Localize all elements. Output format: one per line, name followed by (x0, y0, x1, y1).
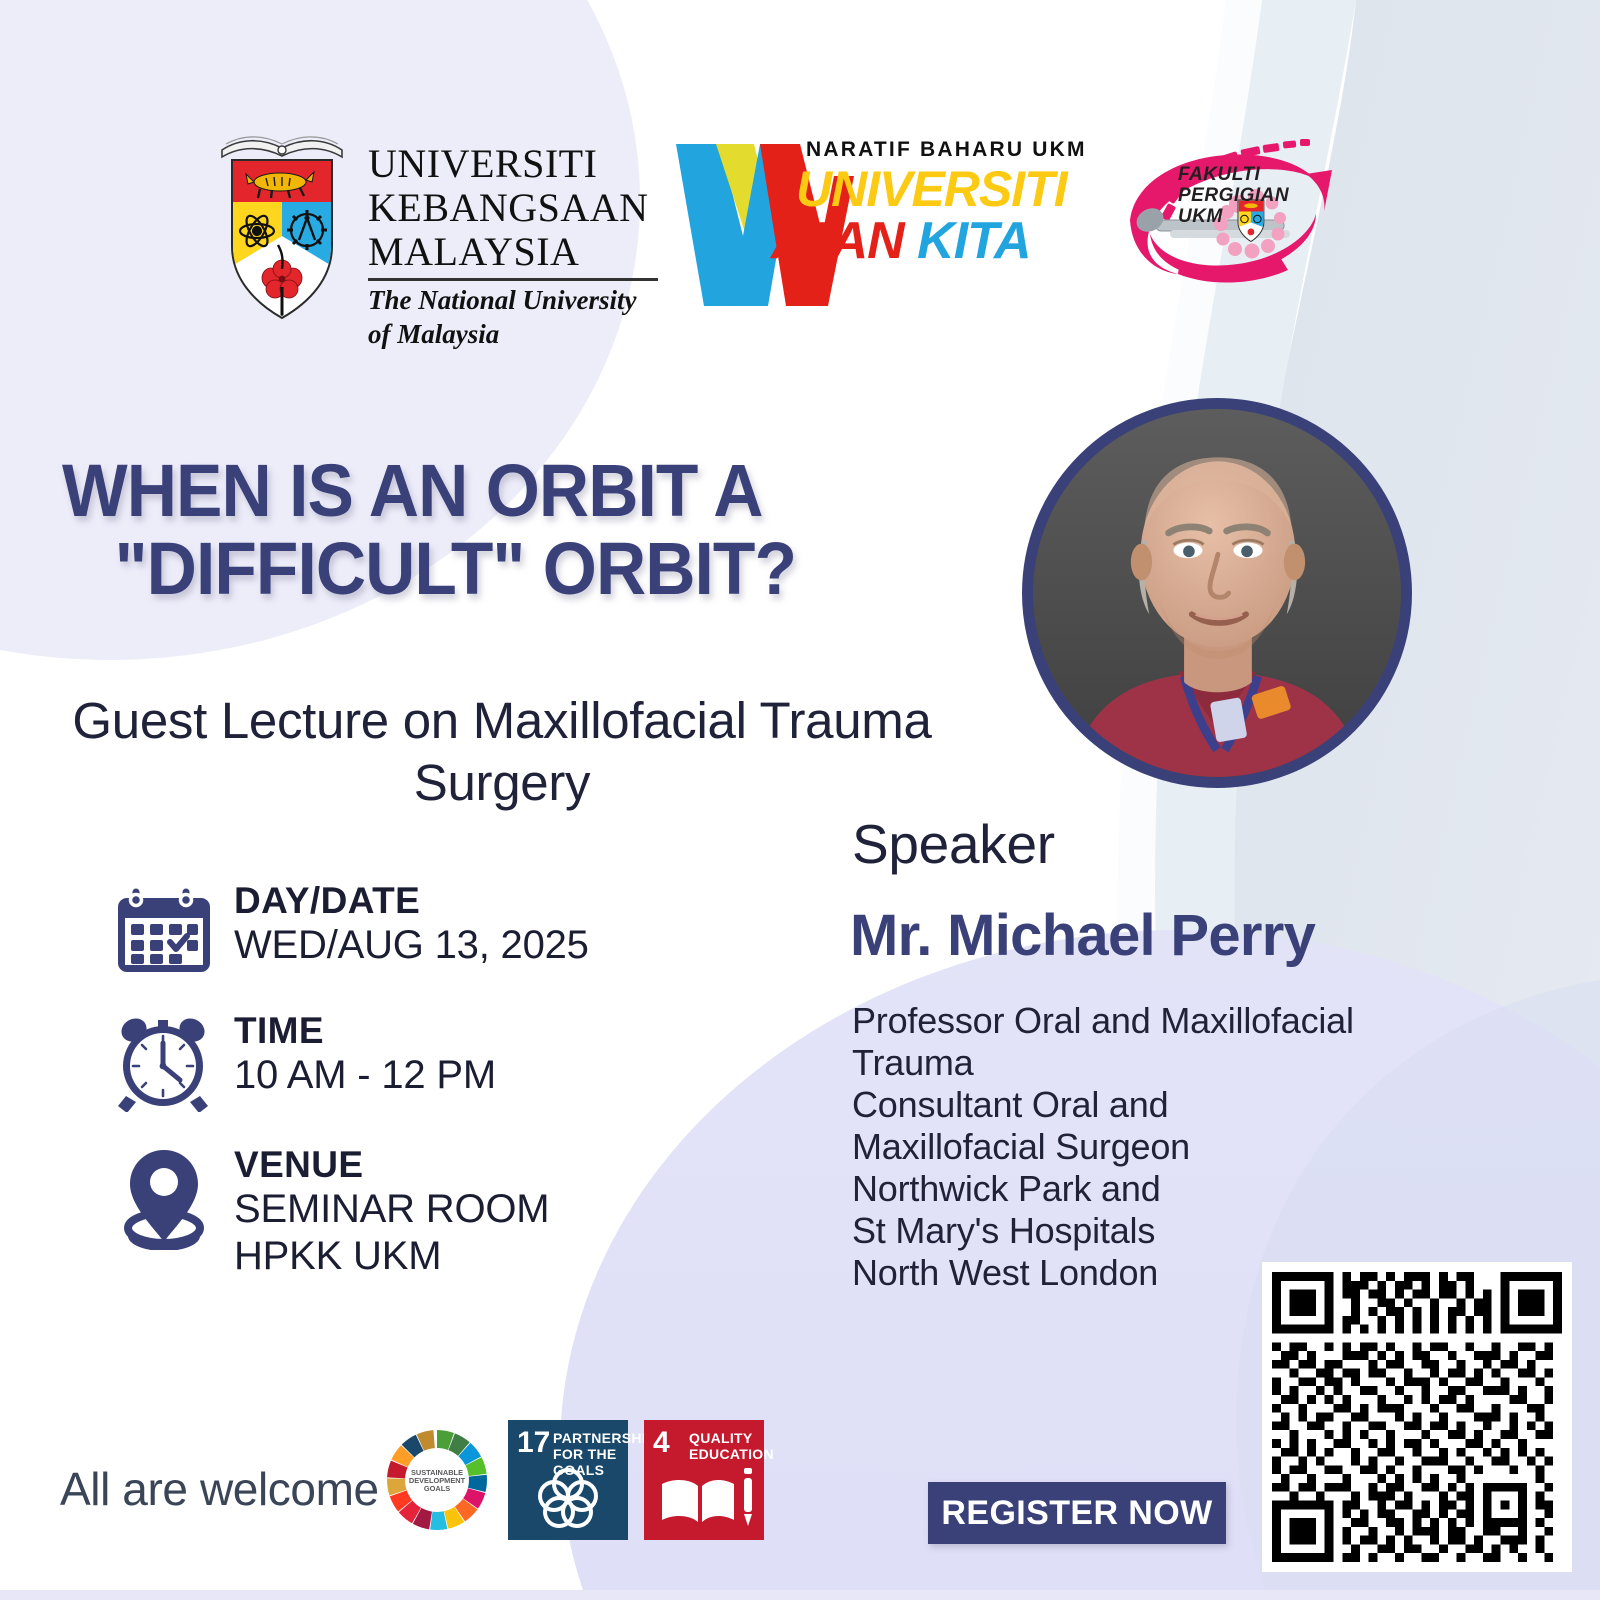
event-poster: UNIVERSITI KEBANGSAAN MALAYSIA The Natio… (0, 0, 1600, 1600)
sdg-4-label-line2: EDUCATION (689, 1446, 774, 1462)
ukm-divider (368, 278, 658, 281)
logo-row: UNIVERSITI KEBANGSAAN MALAYSIA The Natio… (0, 108, 1600, 338)
watan-universiti-label: UNIVERSITI (796, 160, 1067, 218)
detail-text-daydate: DAY/DATE WED/AUG 13, 2025 (220, 878, 589, 969)
ukm-tagline-2: of Malaysia (368, 319, 678, 349)
ukm-tagline-1: The National University (368, 285, 678, 315)
credentials-line-5: Northwick Park and (852, 1168, 1492, 1210)
speaker-credentials: Professor Oral and Maxillofacial Trauma … (852, 1000, 1492, 1294)
sdg-4-label-line1: QUALITY (689, 1430, 774, 1446)
open-book-pencil-icon (644, 1462, 764, 1534)
detail-value-daydate: WED/AUG 13, 2025 (234, 922, 589, 969)
watan-kita-text: KITA (917, 212, 1030, 270)
register-now-label: REGISTER NOW (941, 1494, 1212, 1533)
sdg-goal-4-card: 4 QUALITY EDUCATION (644, 1420, 764, 1540)
watan-naratif-label: NARATIF BAHARU UKM (806, 138, 1087, 162)
title-line-2: "DIFFICULT" ORBIT? (62, 530, 908, 608)
sdg-wheel-icon: SUSTAINABLE DEVELOPMENT GOALS (382, 1425, 492, 1535)
detail-row-daydate: DAY/DATE WED/AUG 13, 2025 (108, 878, 748, 978)
credentials-line-6: St Mary's Hospitals (852, 1210, 1492, 1252)
sdg-goal-17-card: 17 PARTNERSHIPS FOR THE GOALS (508, 1420, 628, 1540)
detail-value-venue-line2: HPKK UKM (234, 1233, 549, 1280)
partnership-rings-icon (508, 1462, 628, 1534)
sdg-logos-row: SUSTAINABLE DEVELOPMENT GOALS 17 PARTNER… (382, 1420, 764, 1540)
credentials-line-2: Trauma (852, 1042, 1492, 1084)
ukm-line2: KEBANGSAAN (368, 186, 678, 230)
detail-value-venue-line1: SEMINAR ROOM (234, 1186, 549, 1233)
credentials-line-4: Maxillofacial Surgeon (852, 1126, 1492, 1168)
calendar-icon (108, 878, 220, 978)
event-details: DAY/DATE WED/AUG 13, 2025 (108, 878, 748, 1310)
fakulti-line2: PERGIGIAN (1178, 185, 1289, 206)
detail-label-time: TIME (234, 1010, 496, 1052)
detail-row-time: TIME 10 AM - 12 PM (108, 1008, 748, 1112)
ukm-line3: MALAYSIA (368, 230, 678, 274)
sdg-17-number: 17 (517, 1428, 550, 1458)
page-title: WHEN IS AN ORBIT A "DIFFICULT" ORBIT? (62, 452, 962, 608)
detail-row-venue: VENUE SEMINAR ROOM HPKK UKM (108, 1142, 748, 1280)
register-now-button[interactable]: REGISTER NOW (928, 1482, 1226, 1544)
detail-text-venue: VENUE SEMINAR ROOM HPKK UKM (220, 1142, 549, 1280)
all-are-welcome-text: All are welcome (60, 1462, 379, 1516)
ukm-line1: UNIVERSITI (368, 142, 678, 186)
fakulti-line3: UKM (1178, 206, 1289, 227)
ukm-crest-icon (218, 126, 348, 326)
fakulti-pergigian-logo: FAKULTI PERGIGIAN UKM (1120, 108, 1400, 308)
svg-text:GOALS: GOALS (424, 1484, 450, 1493)
speaker-portrait-photo (1022, 398, 1412, 788)
subtitle: Guest Lecture on Maxillofacial Trauma Su… (62, 690, 942, 814)
registration-qr-code[interactable] (1262, 1262, 1572, 1572)
sdg-4-label: QUALITY EDUCATION (689, 1430, 774, 1462)
watan-atan-text: ATAN (771, 212, 904, 270)
detail-value-time: 10 AM - 12 PM (234, 1052, 496, 1099)
detail-label-venue: VENUE (234, 1144, 549, 1186)
fakulti-pergigian-label: FAKULTI PERGIGIAN UKM (1178, 164, 1289, 227)
detail-text-time: TIME 10 AM - 12 PM (220, 1008, 496, 1099)
speaker-heading: Speaker (852, 812, 1055, 876)
title-line-1: WHEN IS AN ORBIT A (62, 452, 908, 530)
watan-kita-logo: NARATIF BAHARU UKM UNIVERSITI ATAN KITA (668, 116, 1038, 321)
bg-bottom-strip (0, 1590, 1600, 1600)
speaker-name: Mr. Michael Perry (850, 902, 1315, 969)
credentials-line-1: Professor Oral and Maxillofacial (852, 1000, 1492, 1042)
fakulti-line1: FAKULTI (1178, 164, 1289, 185)
ukm-wordmark: UNIVERSITI KEBANGSAAN MALAYSIA The Natio… (368, 142, 678, 349)
location-pin-icon (108, 1142, 220, 1250)
sdg-4-number: 4 (653, 1428, 670, 1458)
credentials-line-3: Consultant Oral and (852, 1084, 1492, 1126)
detail-label-daydate: DAY/DATE (234, 880, 589, 922)
watan-watankita-label: ATAN KITA (771, 211, 1031, 271)
ukm-logo: UNIVERSITI KEBANGSAAN MALAYSIA The Natio… (218, 118, 678, 338)
alarm-clock-icon (108, 1008, 220, 1112)
